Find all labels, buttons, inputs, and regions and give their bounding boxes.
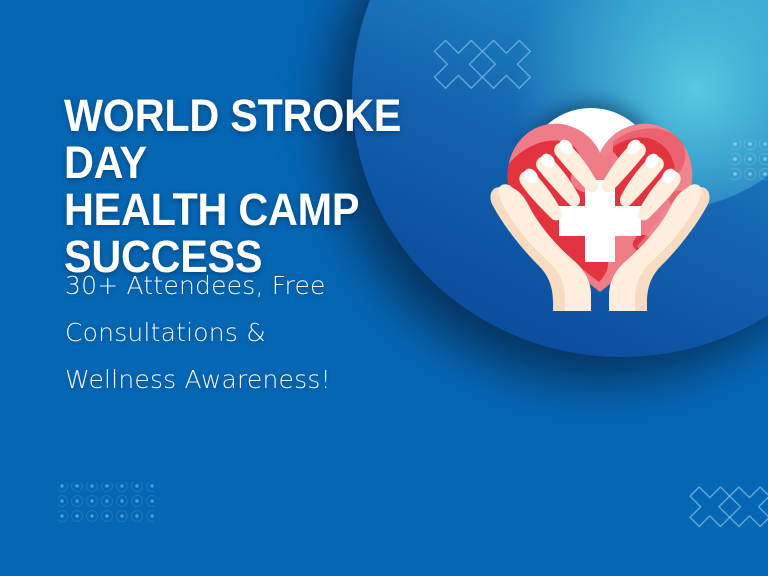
dot-grid-right-icon [731,140,768,184]
headline: World Stroke Day Health Camp Success [64,92,460,280]
hands-heart-illustration [487,96,713,311]
x-marks-top-icon [432,36,536,98]
x-marks-bottom-icon [688,482,768,536]
dot-grid-bottom-left-icon [58,482,154,528]
subtitle: 30+ Attendees, Free Consultations & Well… [65,262,425,403]
poster-canvas: World Stroke Day Health Camp Success 30+… [0,0,768,576]
